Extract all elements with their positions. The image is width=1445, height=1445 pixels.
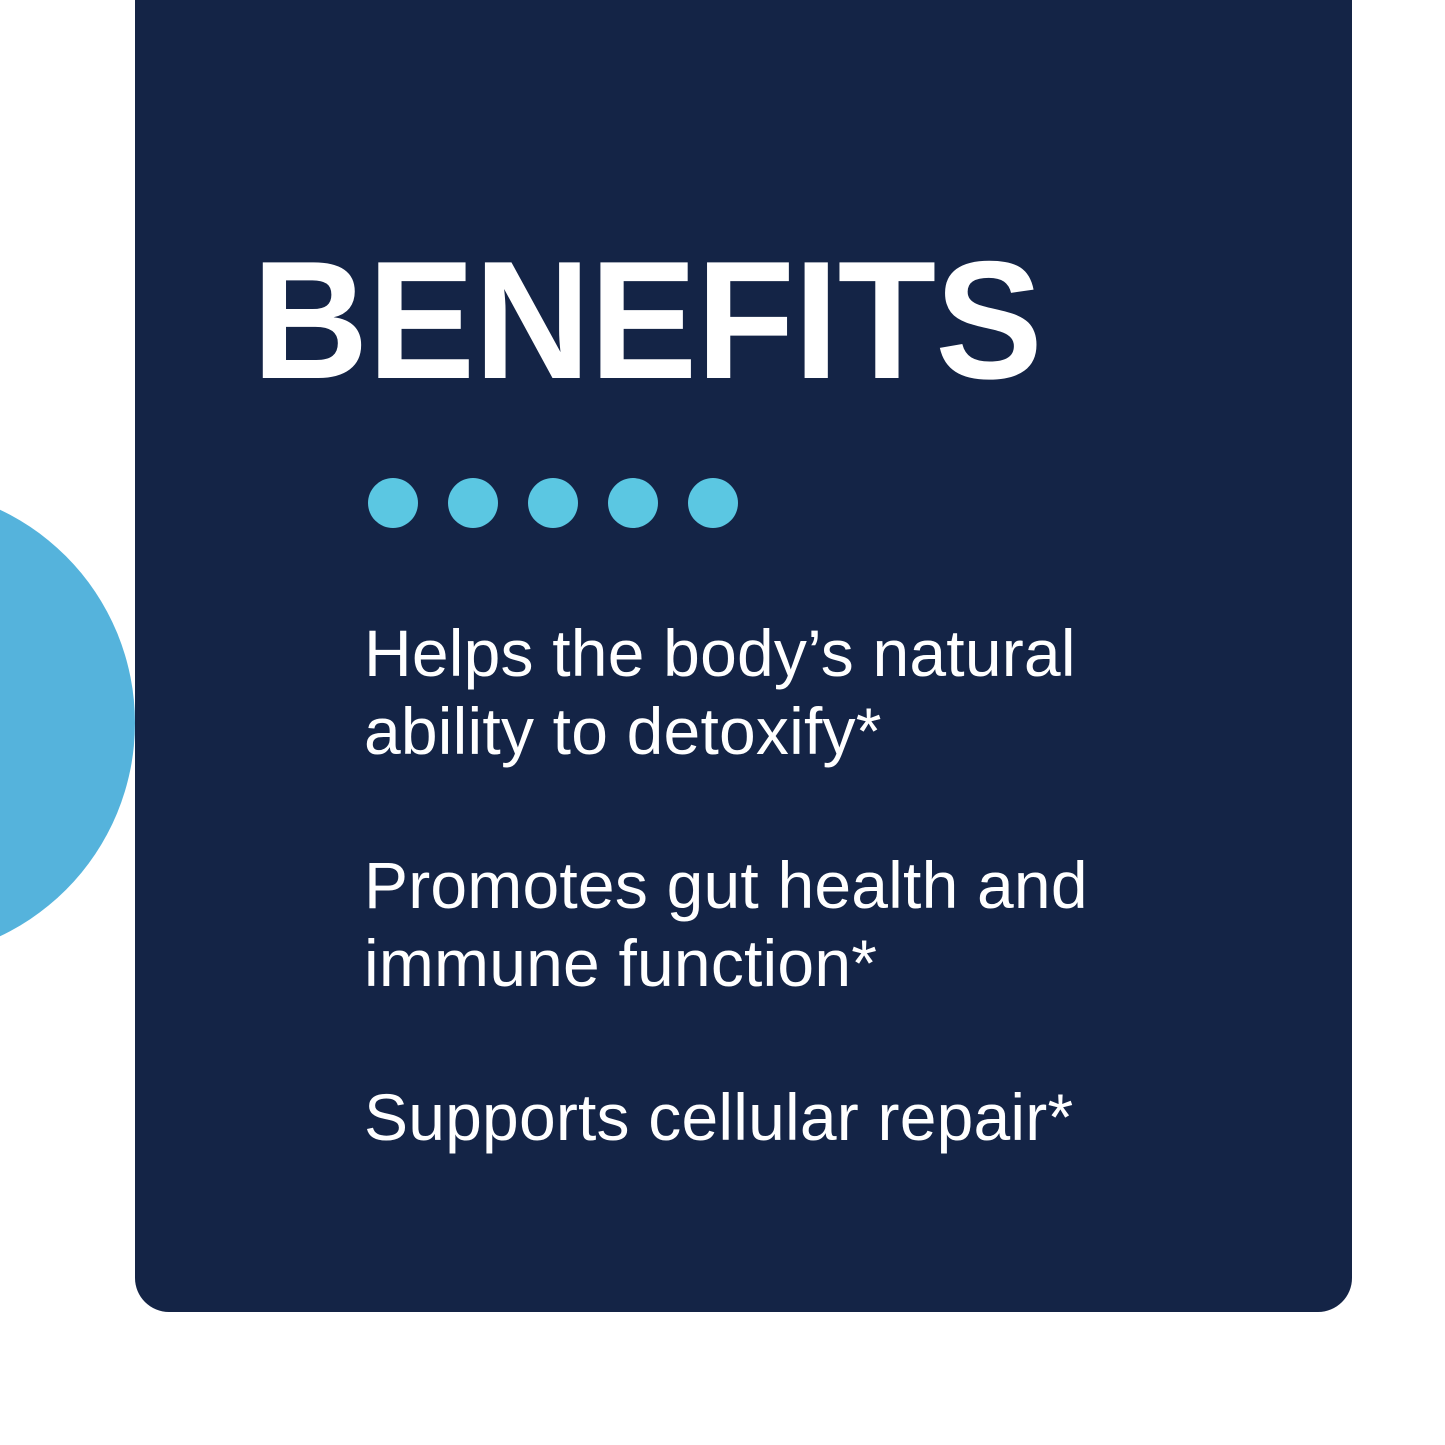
benefit-item: Helps the body’s natural ability to deto… [364,614,1244,770]
accent-circle-decoration [0,487,135,959]
dot-divider [368,478,738,528]
divider-dot-4 [608,478,658,528]
divider-dot-1 [368,478,418,528]
benefits-list: Helps the body’s natural ability to deto… [364,614,1314,1156]
benefits-graphic: BENEFITS Helps the body’s natural abilit… [0,0,1445,1445]
divider-dot-2 [448,478,498,528]
card-content: BENEFITS Helps the body’s natural abilit… [252,0,1352,1312]
page-title: BENEFITS [252,236,1042,404]
benefits-card: BENEFITS Helps the body’s natural abilit… [135,0,1352,1312]
benefit-item: Supports cellular repair* [364,1078,1244,1156]
divider-dot-5 [688,478,738,528]
divider-dot-3 [528,478,578,528]
benefit-item: Promotes gut health and immune function* [364,846,1244,1002]
